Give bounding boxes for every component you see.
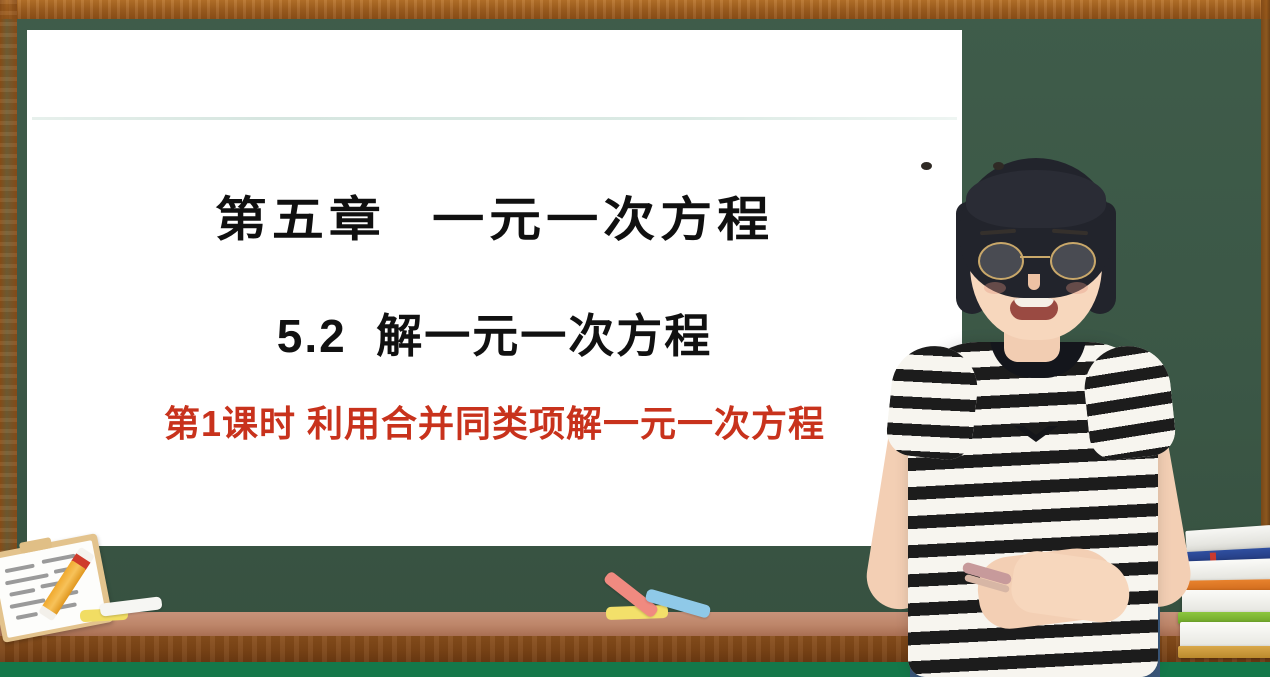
board-frame-top [0,0,1270,19]
board-frame-right [1261,0,1270,600]
paper-text-line [9,588,35,597]
presentation-slide: 第五章 一元一次方程 5.2 解一元一次方程 第1课时 利用合并同类项解一元一次… [27,30,962,546]
eye-right [993,162,1004,170]
presenter-fringe [966,170,1106,228]
presenter-sleeve-left [884,342,981,462]
mouth [1010,298,1058,320]
sleeve-stripes [884,342,981,462]
slide-section-title: 5.2 解一元一次方程 [27,300,962,366]
glasses-lens-right [1050,242,1096,280]
glasses-lens-left [978,242,1024,280]
cheek-left [984,282,1006,294]
presenter-sleeve-right [1080,342,1177,462]
glasses-bridge [1020,256,1050,258]
slide-divider-line [32,117,957,120]
board-frame-left [0,0,17,640]
paper-text-line [16,612,38,620]
teeth [1014,298,1054,307]
lesson-video-frame: 第五章 一元一次方程 5.2 解一元一次方程 第1课时 利用合并同类项解一元一次… [0,0,1270,677]
paper-text-line [5,564,35,574]
eye-left [921,162,932,170]
nose [1028,274,1040,290]
presenter-figure [900,150,1230,677]
cheek-right [1066,282,1088,294]
glasses-icon [972,242,1100,276]
slide-chapter-title: 第五章 一元一次方程 [27,181,962,250]
slide-lesson-title: 第1课时 利用合并同类项解一元一次方程 [27,395,962,447]
sleeve-stripes [1080,342,1177,462]
